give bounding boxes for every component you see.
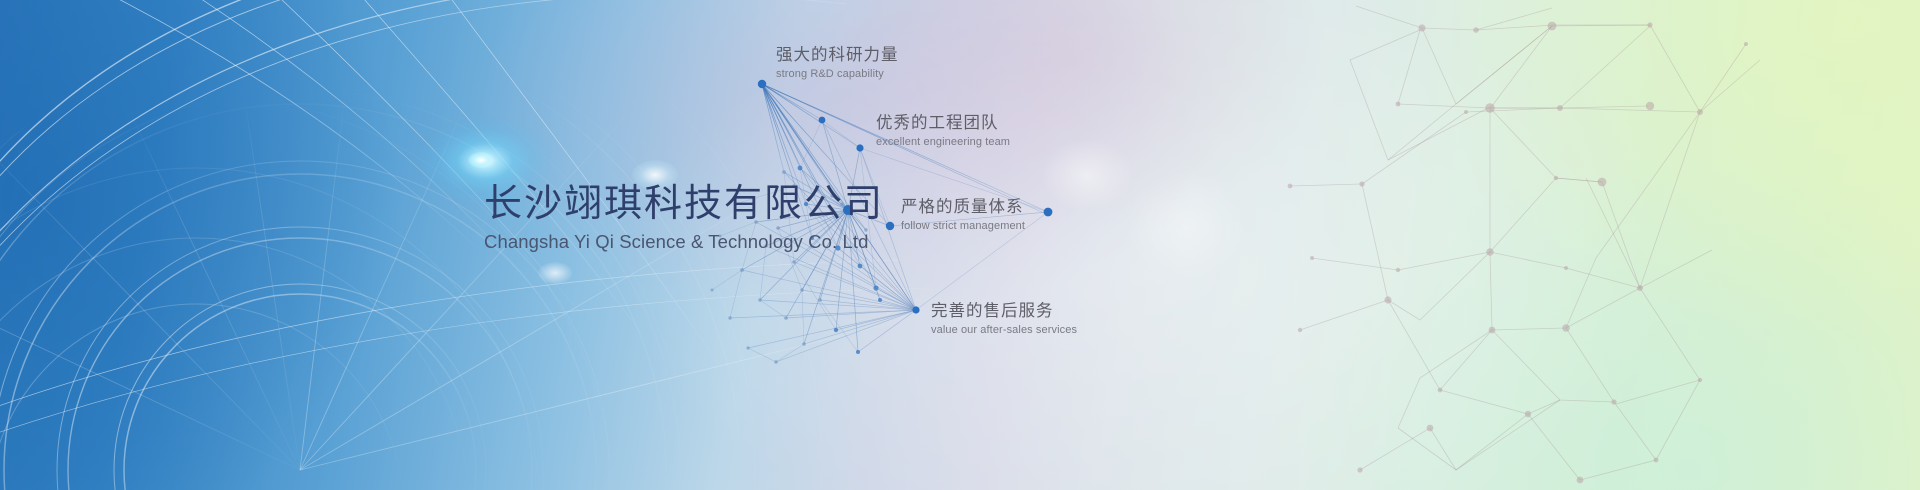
- feature-title-cn-3: 完善的售后服务: [931, 300, 1077, 321]
- soft-highlight-layer: [0, 0, 1920, 490]
- feature-title-en-2: follow strict management: [901, 219, 1025, 234]
- upper-arc-lines-graphic: [0, 0, 1920, 490]
- white-glow-c: [1042, 140, 1132, 210]
- blue-depth-layer: [0, 0, 1920, 490]
- hero-banner: 长沙翊琪科技有限公司 Changsha Yi Qi Science & Tech…: [0, 0, 1920, 490]
- feature-excellent-engineering-team: 优秀的工程团队 excellent engineering team: [876, 112, 1010, 150]
- arc-lines-graphic: [0, 0, 1920, 490]
- company-title-block: 长沙翊琪科技有限公司 Changsha Yi Qi Science & Tech…: [484, 182, 884, 254]
- white-glow-a: [632, 160, 678, 190]
- feature-title-cn-0: 强大的科研力量: [776, 44, 899, 65]
- right-network-graphic: [0, 0, 1920, 490]
- feature-title-cn-1: 优秀的工程团队: [876, 112, 1010, 133]
- white-glow-d: [1126, 172, 1246, 282]
- company-name-cn: 长沙翊琪科技有限公司: [484, 182, 884, 226]
- feature-follow-strict-management: 严格的质量体系 follow strict management: [901, 196, 1025, 234]
- feature-strong-rd-capability: 强大的科研力量 strong R&D capability: [776, 44, 899, 82]
- feature-title-en-3: value our after-sales services: [931, 323, 1077, 338]
- cyan-glow-primary: [420, 118, 550, 204]
- company-name-en: Changsha Yi Qi Science & Technology Co. …: [484, 230, 884, 254]
- feature-title-en-0: strong R&D capability: [776, 67, 899, 82]
- green-wash-layer: [0, 0, 1920, 490]
- feature-value-after-sales-services: 完善的售后服务 value our after-sales services: [931, 300, 1077, 338]
- feature-title-en-1: excellent engineering team: [876, 135, 1010, 150]
- cyan-glow-spark: [468, 152, 494, 168]
- feature-title-cn-2: 严格的质量体系: [901, 196, 1025, 217]
- central-network-graphic: [0, 0, 1920, 490]
- lavender-tint-layer: [0, 0, 1920, 490]
- white-glow-b: [538, 262, 572, 284]
